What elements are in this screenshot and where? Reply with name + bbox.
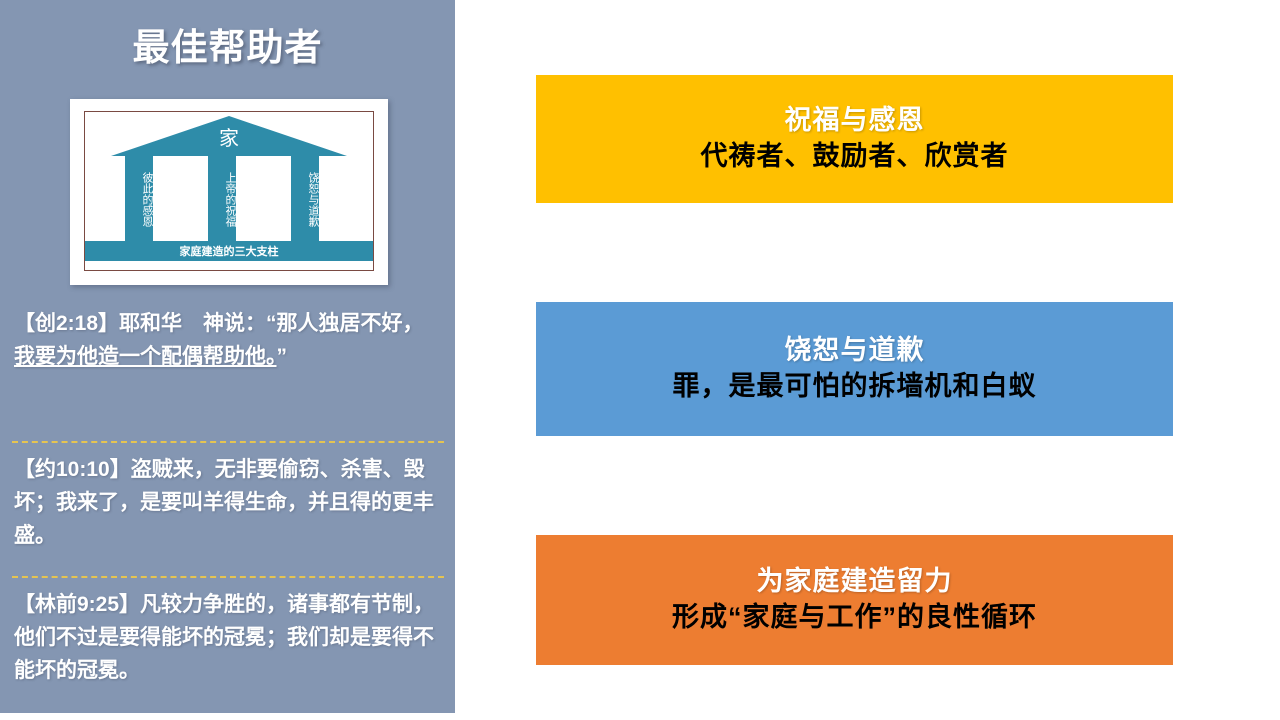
pillar-gratitude: 彼此的感恩	[125, 154, 153, 241]
scripture-verse-corinthians: 【林前9:25】凡较力争胜的，诸事都有节制，他们不过是要得能坏的冠冕；我们却是要…	[14, 588, 444, 687]
content-box-subheading: 代祷者、鼓励者、欣赏者	[701, 140, 1009, 174]
content-box-forgiveness: 饶恕与道歉 罪，是最可怕的拆墙机和白蚁	[536, 302, 1173, 436]
content-box-family-energy: 为家庭建造留力 形成“家庭与工作”的良性循环	[536, 535, 1173, 665]
sidebar-panel: 最佳帮助者 家 彼此的感恩 上帝的祝福 饶恕与道歉 家庭建造的三大支柱 【创2:…	[0, 0, 455, 713]
diagram-canvas: 家 彼此的感恩 上帝的祝福 饶恕与道歉 家庭建造的三大支柱	[84, 111, 374, 271]
verse-text-tail: ”	[277, 345, 288, 368]
content-box-blessing: 祝福与感恩 代祷者、鼓励者、欣赏者	[536, 75, 1173, 203]
verse-text-emphasis: 我要为他造一个配偶	[14, 345, 203, 368]
pillar-blessing: 上帝的祝福	[208, 154, 236, 241]
verse-text-emphasis-2: 帮助他。	[203, 345, 277, 368]
content-box-heading: 祝福与感恩	[785, 104, 925, 138]
pillar-forgiveness: 饶恕与道歉	[291, 154, 319, 241]
content-box-subheading: 罪，是最可怕的拆墙机和白蚁	[673, 370, 1037, 404]
content-box-heading: 饶恕与道歉	[785, 334, 925, 368]
verse-divider	[12, 576, 444, 578]
page-title: 最佳帮助者	[0, 27, 455, 70]
verse-reference: 【创2:18】	[14, 312, 119, 335]
content-box-heading: 为家庭建造留力	[757, 565, 953, 599]
content-box-subheading: 形成“家庭与工作”的良性循环	[672, 601, 1037, 635]
presentation-slide: 最佳帮助者 家 彼此的感恩 上帝的祝福 饶恕与道歉 家庭建造的三大支柱 【创2:…	[0, 0, 1280, 720]
verse-divider	[12, 441, 444, 443]
scripture-verse-genesis: 【创2:18】耶和华 神说：“那人独居不好，我要为他造一个配偶帮助他。”	[14, 307, 444, 373]
three-pillars-diagram: 家 彼此的感恩 上帝的祝福 饶恕与道歉 家庭建造的三大支柱	[70, 99, 388, 285]
verse-text-plain: 耶和华 神说：“那人独居不好，	[119, 312, 424, 335]
roof-label: 家	[219, 129, 239, 149]
scripture-verse-john: 【约10:10】盗贼来，无非要偷窃、杀害、毁坏；我来了，是要叫羊得生命，并且得的…	[14, 453, 444, 552]
diagram-base-label: 家庭建造的三大支柱	[85, 241, 373, 261]
